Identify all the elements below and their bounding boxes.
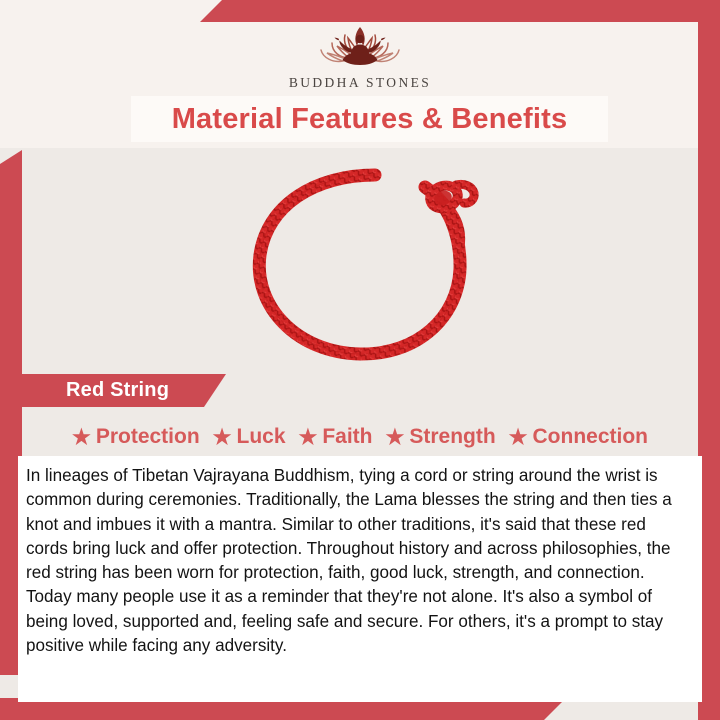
benefit-label: Strength xyxy=(409,425,495,449)
star-icon: ★ xyxy=(213,427,232,448)
product-label-text: Red String xyxy=(22,379,169,402)
brand-logo: BUDDHA STONES xyxy=(0,22,720,94)
benefit-item-connection: ★ Connection xyxy=(509,425,648,449)
star-icon: ★ xyxy=(386,427,405,448)
benefits-list: ★ Protection ★ Luck ★ Faith ★ Strength ★… xyxy=(22,418,698,456)
benefit-item-protection: ★ Protection xyxy=(72,425,200,449)
page-title-banner: Material Features & Benefits xyxy=(131,96,608,142)
decorative-border-top xyxy=(200,0,720,22)
star-icon: ★ xyxy=(509,427,528,448)
product-image xyxy=(22,150,698,378)
benefit-label: Luck xyxy=(237,425,286,449)
lotus-meditation-logo-icon xyxy=(301,22,419,74)
star-icon: ★ xyxy=(299,427,318,448)
red-string-bracelet-icon xyxy=(220,157,500,372)
benefit-item-strength: ★ Strength xyxy=(386,425,496,449)
benefit-label: Protection xyxy=(96,425,200,449)
product-label-ribbon: Red String xyxy=(22,374,226,407)
star-icon: ★ xyxy=(72,427,91,448)
benefit-label: Connection xyxy=(533,425,649,449)
brand-name: BUDDHA STONES xyxy=(289,75,431,91)
description-text: In lineages of Tibetan Vajrayana Buddhis… xyxy=(26,464,690,658)
page-title: Material Features & Benefits xyxy=(172,103,568,136)
description-panel: In lineages of Tibetan Vajrayana Buddhis… xyxy=(18,456,702,702)
benefit-item-faith: ★ Faith xyxy=(299,425,373,449)
benefit-item-luck: ★ Luck xyxy=(213,425,286,449)
benefit-label: Faith xyxy=(322,425,372,449)
